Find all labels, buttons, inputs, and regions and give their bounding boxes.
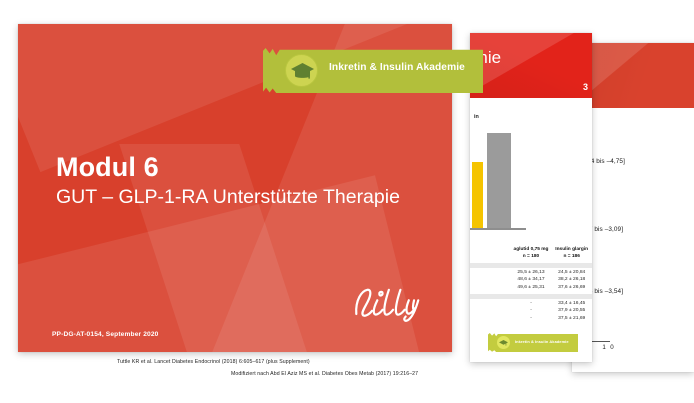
table-cell-label — [470, 269, 511, 277]
table-row: - 37,9 ± 20,55 — [470, 307, 592, 315]
table-col3-line1: Insulin glargin — [551, 246, 592, 253]
lilly-script-logo — [350, 284, 434, 324]
table-col-head-dulaglutid: aglutid 0,75 mg n = 180 — [511, 246, 552, 261]
table-col-head-spacer — [470, 246, 511, 261]
middle-slide-body: in aglutid 0,75 mg n = 180 Insulin glarg… — [470, 98, 592, 362]
bar-dulaglutid — [472, 162, 483, 228]
table-row: 48,6 ± 34,17 38,2 ± 26,18 — [470, 276, 592, 284]
table-row: 25,5 ± 26,13 24,5 ± 20,84 — [470, 269, 592, 277]
table-cell: 38,2 ± 26,18 — [551, 276, 592, 284]
chart-baseline — [470, 228, 526, 230]
middle-slide-header: glykämie 3 — [470, 33, 592, 98]
title-block: Modul 6 GUT – GLP-1-RA Unterstützte Ther… — [56, 152, 400, 211]
akademie-ribbon[interactable]: Inkretin & Insulin Akademie — [263, 48, 483, 93]
graduation-cap-icon — [497, 336, 510, 349]
table-band-1 — [470, 263, 592, 268]
slide-card-middle[interactable]: glykämie 3 in aglutid 0,75 mg n = 180 — [470, 33, 592, 362]
slide-deck-stage: – 5,44 bis –4,75] ] –3,47 bis –3,09] ] –… — [0, 0, 694, 403]
middle-slide-footer-ribbon: Inkretin & Insulin Akademie — [488, 333, 578, 352]
table-row: 49,6 ± 25,31 37,6 ± 26,69 — [470, 284, 592, 292]
graduation-cap-icon — [285, 54, 318, 87]
table-cell-label — [470, 315, 511, 323]
table-cell: - — [511, 300, 552, 308]
table-row: - 37,5 ± 21,69 — [470, 315, 592, 323]
middle-footer-label: Inkretin & Insulin Akademie — [515, 339, 569, 344]
chart-axis-note: in — [474, 114, 479, 120]
table-col-head-glargin: Insulin glargin n = 186 — [551, 246, 592, 261]
bar-chart: in — [470, 112, 592, 234]
slide-code-text: PP-DG-AT-0154, September 2020 — [52, 331, 158, 338]
results-table: aglutid 0,75 mg n = 180 Insulin glargin … — [470, 246, 592, 322]
table-row: - 33,4 ± 16,45 — [470, 300, 592, 308]
table-cell: 37,5 ± 21,69 — [551, 315, 592, 323]
table-cell: - — [511, 307, 552, 315]
table-cell: 49,6 ± 25,31 — [511, 284, 552, 292]
table-cell: 33,4 ± 16,45 — [551, 300, 592, 308]
table-cell-label — [470, 300, 511, 308]
table-col2-line2: n = 180 — [511, 253, 552, 260]
middle-slide-header-mark: 3 — [583, 82, 588, 92]
bar-insulin-glargin — [487, 133, 511, 228]
table-cell: - — [511, 315, 552, 323]
table-band-2 — [470, 294, 592, 299]
reference-line-1: Tuttle KR et al. Lancet Diabetes Endocri… — [117, 359, 310, 365]
akademie-ribbon-label: Inkretin & Insulin Akademie — [329, 62, 465, 73]
table-col3-line2: n = 186 — [551, 253, 592, 260]
page-title: Modul 6 — [56, 152, 400, 182]
table-cell: 25,5 ± 26,13 — [511, 269, 552, 277]
table-col2-line1: aglutid 0,75 mg — [511, 246, 552, 253]
table-cell-label — [470, 307, 511, 315]
table-cell-label — [470, 276, 511, 284]
table-cell: 37,6 ± 26,69 — [551, 284, 592, 292]
table-cell: 37,9 ± 20,55 — [551, 307, 592, 315]
table-cell-label — [470, 284, 511, 292]
reference-line-2: Modifiziert nach Abd El Aziz MS et al. D… — [231, 371, 418, 377]
page-subtitle: GUT – GLP-1-RA Unterstützte Therapie — [56, 185, 400, 210]
table-cell: 48,6 ± 34,17 — [511, 276, 552, 284]
table-cell: 24,5 ± 20,84 — [551, 269, 592, 277]
table-header-row: aglutid 0,75 mg n = 180 Insulin glargin … — [470, 246, 592, 261]
